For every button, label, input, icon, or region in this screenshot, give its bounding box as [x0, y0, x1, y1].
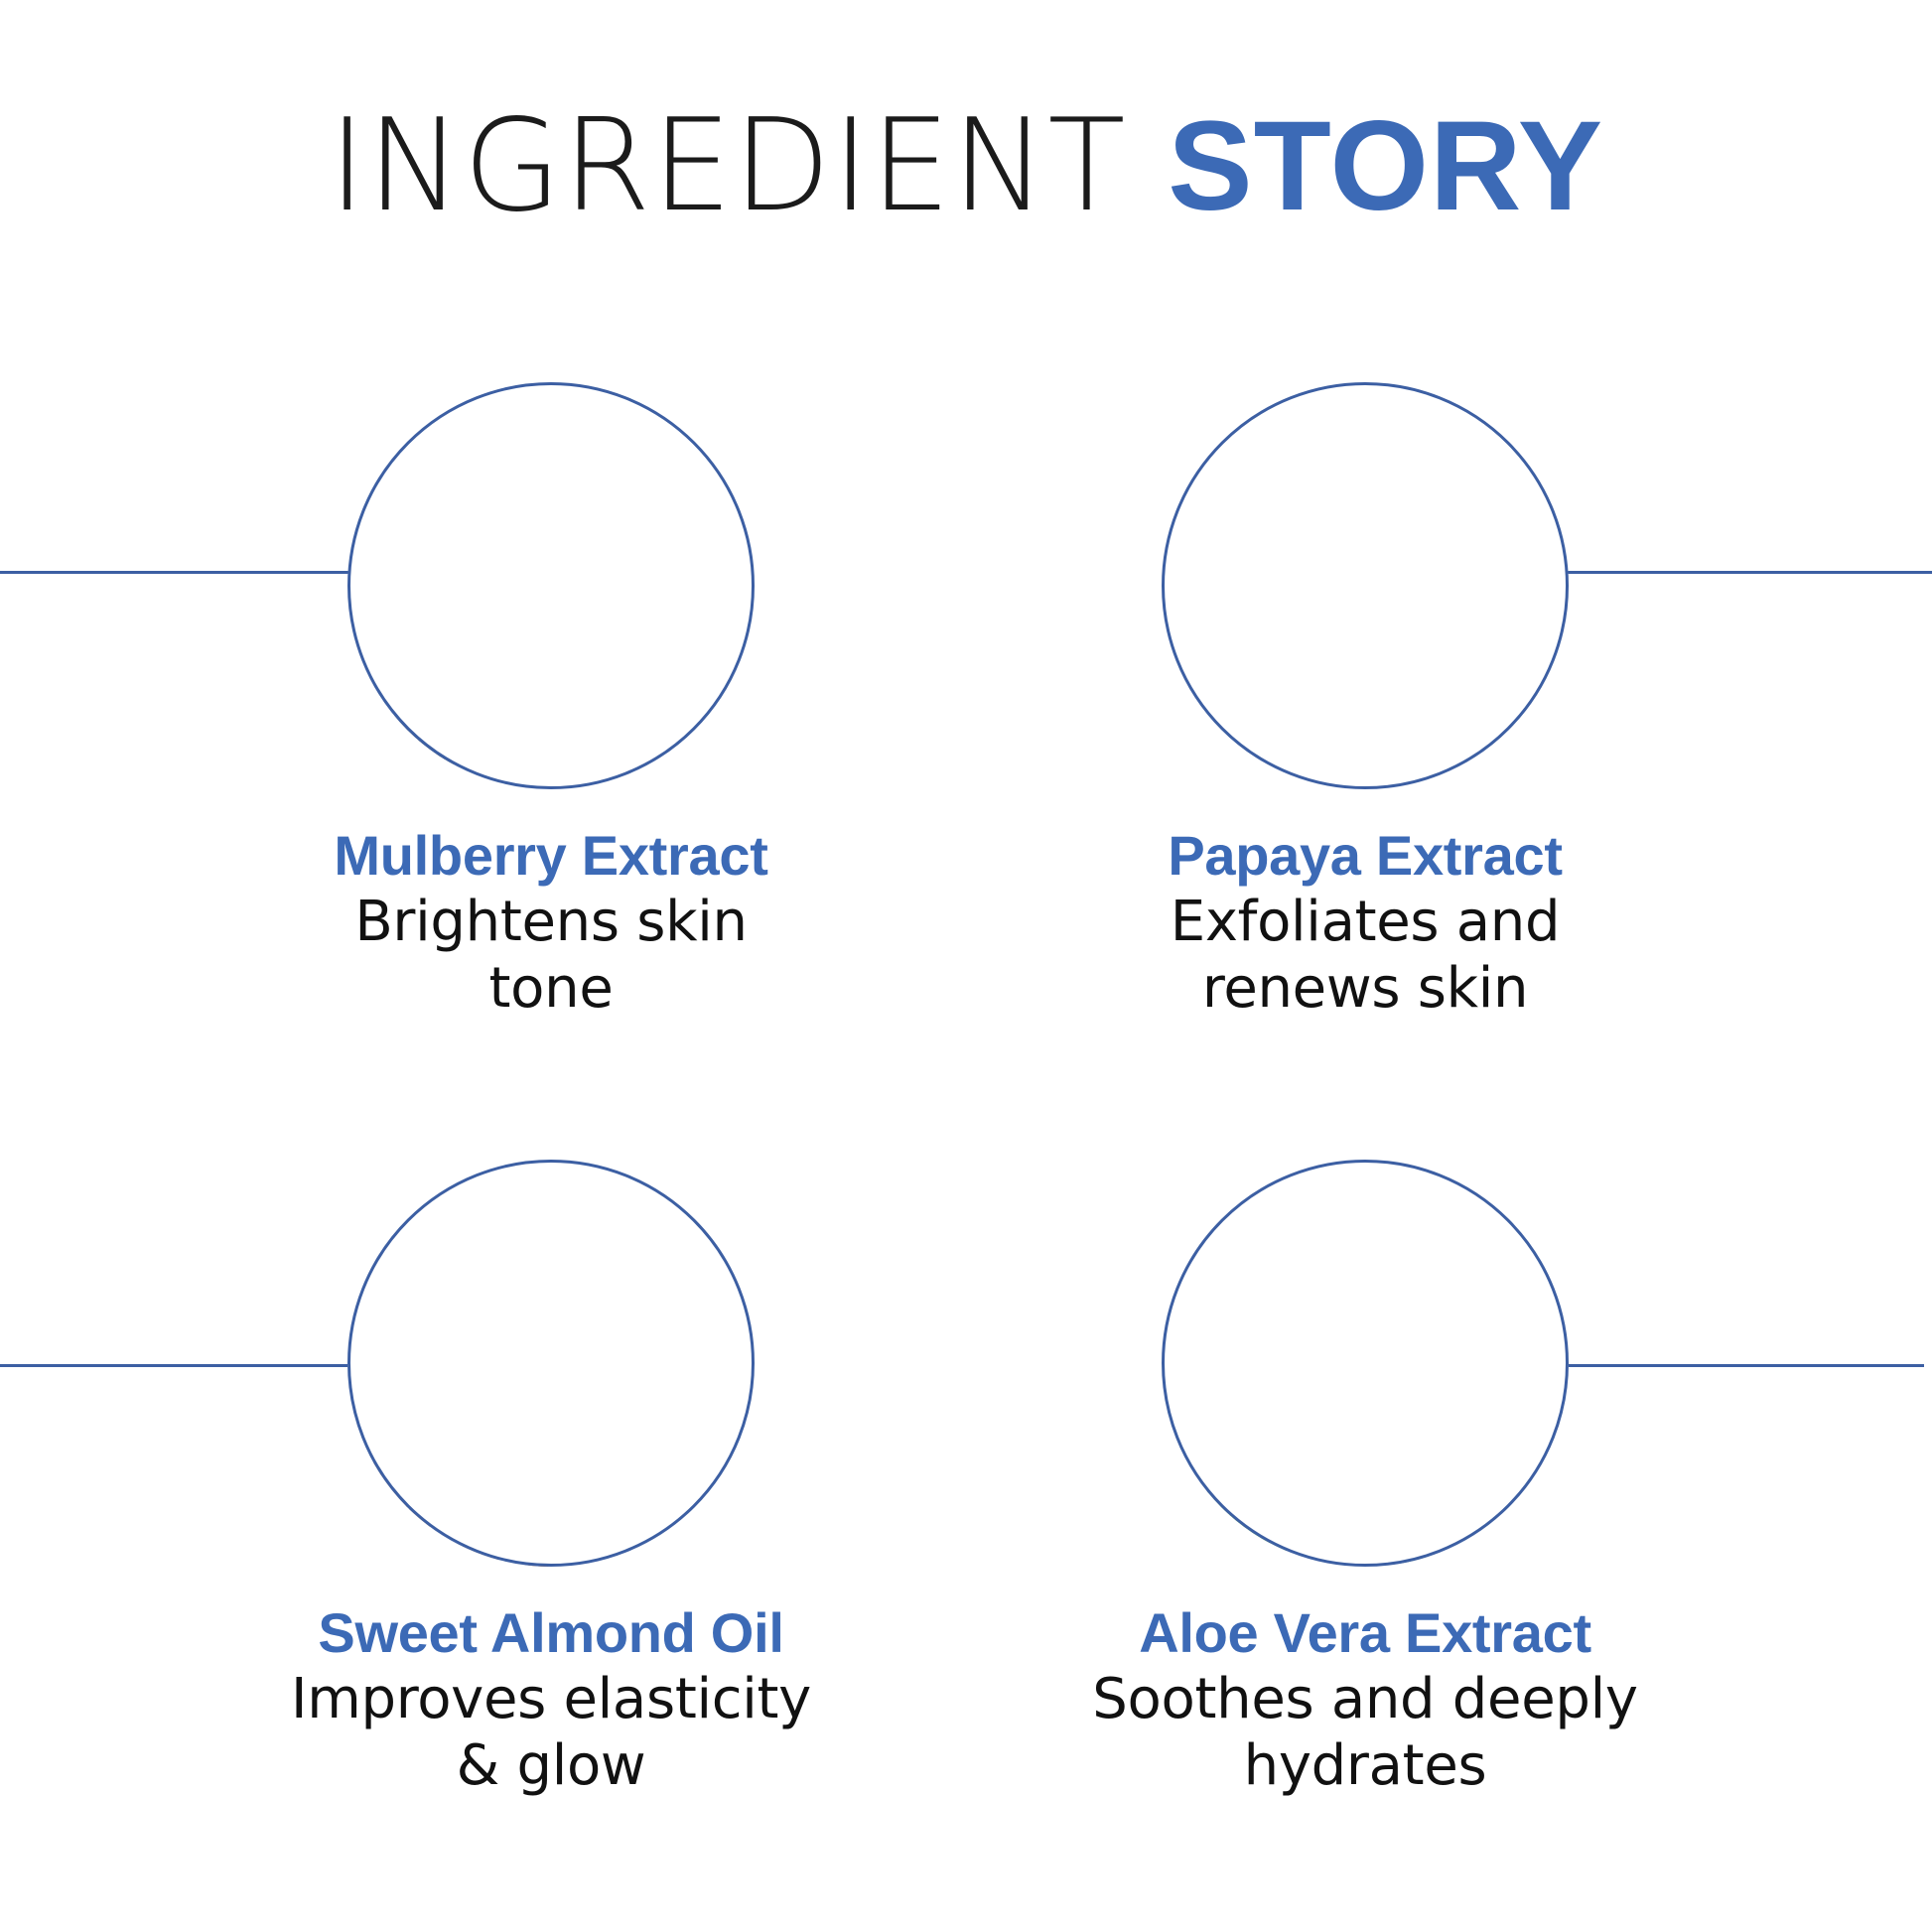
ingredient-desc-line1: Soothes and deeply — [988, 1666, 1742, 1732]
ingredient-card-mulberry: Mulberry Extract Brightens skin tone — [174, 382, 928, 1022]
ingredient-caption-sweet-almond-oil: Sweet Almond Oil Improves elasticity & g… — [174, 1600, 928, 1799]
ingredient-name: Aloe Vera Extract — [988, 1600, 1742, 1666]
ingredient-caption-mulberry: Mulberry Extract Brightens skin tone — [174, 823, 928, 1022]
circle-outline — [1162, 1160, 1569, 1567]
ingredient-image-circle-papaya — [1162, 382, 1569, 789]
ingredient-desc-line2: tone — [174, 955, 928, 1022]
ingredient-image-circle-mulberry — [347, 382, 755, 789]
circle-outline — [1162, 382, 1569, 789]
circle-outline — [347, 1160, 755, 1567]
ingredient-caption-aloe-vera: Aloe Vera Extract Soothes and deeply hyd… — [988, 1600, 1742, 1799]
ingredient-name: Mulberry Extract — [174, 823, 928, 889]
ingredient-desc-line2: hydrates — [988, 1732, 1742, 1799]
ingredient-name: Sweet Almond Oil — [174, 1600, 928, 1666]
ingredient-desc-line2: renews skin — [988, 955, 1742, 1022]
page-title: INGREDIENT STORY — [0, 103, 1932, 230]
page-title-plain: INGREDIENT — [329, 92, 1168, 240]
ingredient-desc-line1: Improves elasticity — [174, 1666, 928, 1732]
ingredient-image-circle-sweet-almond-oil — [347, 1160, 755, 1567]
ingredient-image-circle-aloe-vera — [1162, 1160, 1569, 1567]
ingredient-card-sweet-almond-oil: Sweet Almond Oil Improves elasticity & g… — [174, 1160, 928, 1799]
ingredient-card-aloe-vera: Aloe Vera Extract Soothes and deeply hyd… — [988, 1160, 1742, 1799]
ingredient-desc-line1: Exfoliates and — [988, 889, 1742, 955]
ingredient-name: Papaya Extract — [988, 823, 1742, 889]
ingredient-story-infographic: INGREDIENT STORY — [0, 0, 1932, 1932]
circle-outline — [347, 382, 755, 789]
ingredient-caption-papaya: Papaya Extract Exfoliates and renews ski… — [988, 823, 1742, 1022]
ingredient-card-papaya: Papaya Extract Exfoliates and renews ski… — [988, 382, 1742, 1022]
ingredient-desc-line2: & glow — [174, 1732, 928, 1799]
ingredient-desc-line1: Brightens skin — [174, 889, 928, 955]
page-title-accent: STORY — [1168, 95, 1603, 237]
